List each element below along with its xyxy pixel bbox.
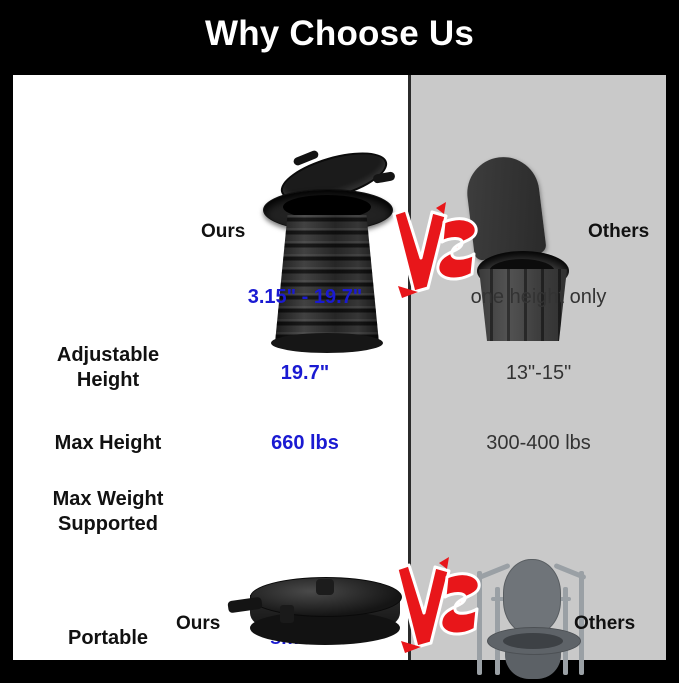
row-label-line2: Supported (13, 512, 203, 537)
latch (280, 605, 294, 623)
ours-value-max-weight: 660 lbs (205, 431, 405, 455)
lid (463, 153, 547, 261)
ours-value-max-height: 19.7" (205, 361, 405, 385)
page-title: Why Choose Us (0, 14, 679, 54)
telescoping-toilet-collapsed-image (228, 575, 428, 655)
telescoping-body (275, 215, 379, 343)
row-label-max-weight: Max Weight Supported (13, 415, 203, 537)
others-value-adjustable-height: one height only (411, 285, 666, 309)
ours-caption-top: Ours (201, 221, 245, 243)
frame-leg-left (477, 571, 482, 675)
row-label-portable: Portable (13, 626, 203, 651)
base (271, 333, 383, 353)
comparison-poster: Why Choose Us Ours Adjustable Height Max (0, 0, 679, 679)
others-caption-bottom: Others (574, 613, 635, 635)
row-label-line1: Portable (13, 626, 203, 651)
row-label-line1: Max Weight (13, 487, 203, 512)
others-caption-top: Others (588, 221, 649, 243)
backrest (503, 559, 561, 635)
comparison-table: Ours Adjustable Height Max Height Max We… (13, 75, 666, 660)
ours-column: Ours Adjustable Height Max Height Max We… (13, 75, 408, 660)
telescoping-toilet-extended-image (241, 157, 401, 347)
others-value-max-weight: 300-400 lbs (411, 431, 666, 455)
seat-opening (503, 633, 563, 649)
ours-value-adjustable-height: 3.15" - 19.7" (205, 285, 405, 309)
others-value-max-height: 13"-15" (411, 361, 666, 385)
ours-caption-bottom: Ours (176, 613, 220, 635)
others-column: Others one height only 13"-15" 300-400 l… (411, 75, 666, 660)
drum-knob (316, 579, 334, 595)
bucket-toilet-image (447, 155, 597, 345)
